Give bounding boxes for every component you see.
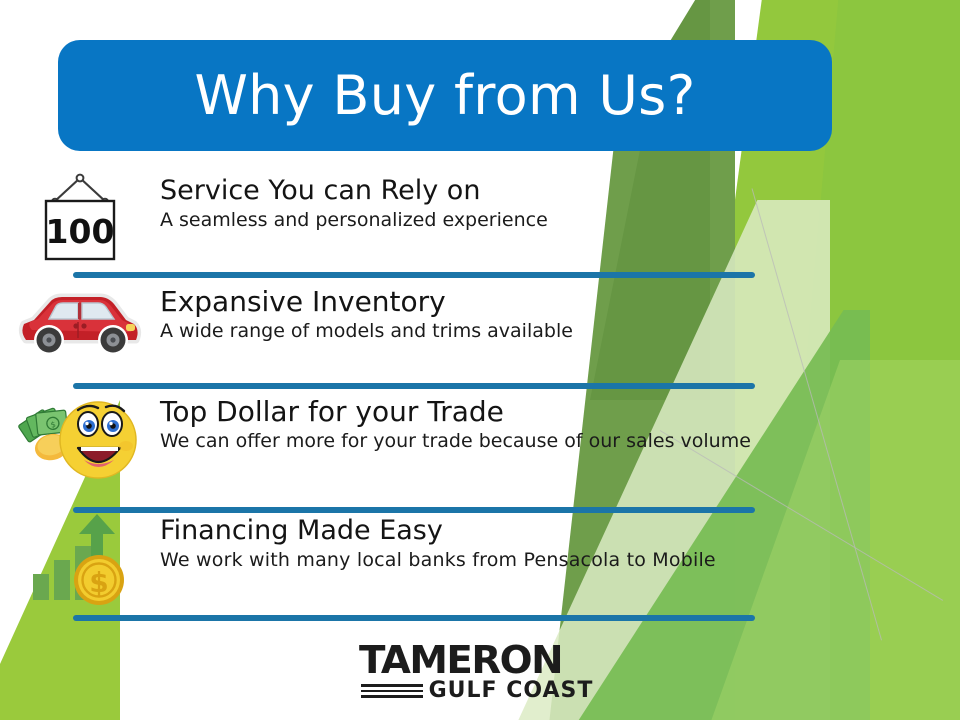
- feature-title: Financing Made Easy: [160, 516, 770, 546]
- feature-subtitle: We can offer more for your trade because…: [160, 430, 770, 452]
- row-divider-2: [73, 383, 755, 389]
- feature-subtitle: We work with many local banks from Pensa…: [160, 549, 770, 571]
- feature-title: Expansive Inventory: [160, 286, 770, 317]
- title-banner: Why Buy from Us?: [58, 40, 832, 151]
- row-divider-1: [73, 272, 755, 278]
- feature-subtitle: A seamless and personalized experience: [160, 209, 770, 231]
- feature-row-financing: $ Financing Made Easy We work with many …: [0, 512, 960, 630]
- icon-cell-4: $: [0, 512, 160, 608]
- logo-bottom-row: GULF COAST: [361, 680, 594, 702]
- logo-region-name: GULF COAST: [429, 680, 594, 702]
- icon-cell-3: $: [0, 392, 160, 484]
- text-cell-1: Service You can Rely on A seamless and p…: [160, 172, 960, 232]
- logo-brand-name: TAMERON: [359, 642, 562, 678]
- svg-text:$: $: [89, 566, 108, 599]
- growth-chart-coin-icon: $: [25, 512, 135, 608]
- feature-title: Top Dollar for your Trade: [160, 396, 770, 427]
- logo-inner: TAMERON GULF COAST: [361, 642, 594, 702]
- text-cell-2: Expansive Inventory A wide range of mode…: [160, 282, 960, 343]
- feature-row-trade: $: [0, 392, 960, 508]
- text-cell-4: Financing Made Easy We work with many lo…: [160, 512, 960, 572]
- icon-cell-2: [0, 282, 160, 362]
- svg-text:100: 100: [46, 212, 115, 251]
- icon-cell-1: 100: [0, 172, 160, 264]
- smiley-with-cash-icon: $: [16, 392, 144, 484]
- tameron-logo: TAMERON GULF COAST: [352, 640, 602, 704]
- logo-stripes-icon: [361, 684, 423, 698]
- row-divider-4: [73, 615, 755, 621]
- red-car-icon: [16, 282, 144, 362]
- feature-subtitle: A wide range of models and trims availab…: [160, 320, 770, 342]
- feature-title: Service You can Rely on: [160, 176, 770, 206]
- feature-row-inventory: Expansive Inventory A wide range of mode…: [0, 282, 960, 384]
- feature-row-service: 100 Service You can Rely on A seamless a…: [0, 172, 960, 274]
- slide-canvas: Why Buy from Us? 100 Service You can Rel…: [0, 0, 960, 720]
- hanging-sign-100-icon: 100: [34, 172, 126, 264]
- page-title: Why Buy from Us?: [194, 69, 695, 123]
- text-cell-3: Top Dollar for your Trade We can offer m…: [160, 392, 960, 453]
